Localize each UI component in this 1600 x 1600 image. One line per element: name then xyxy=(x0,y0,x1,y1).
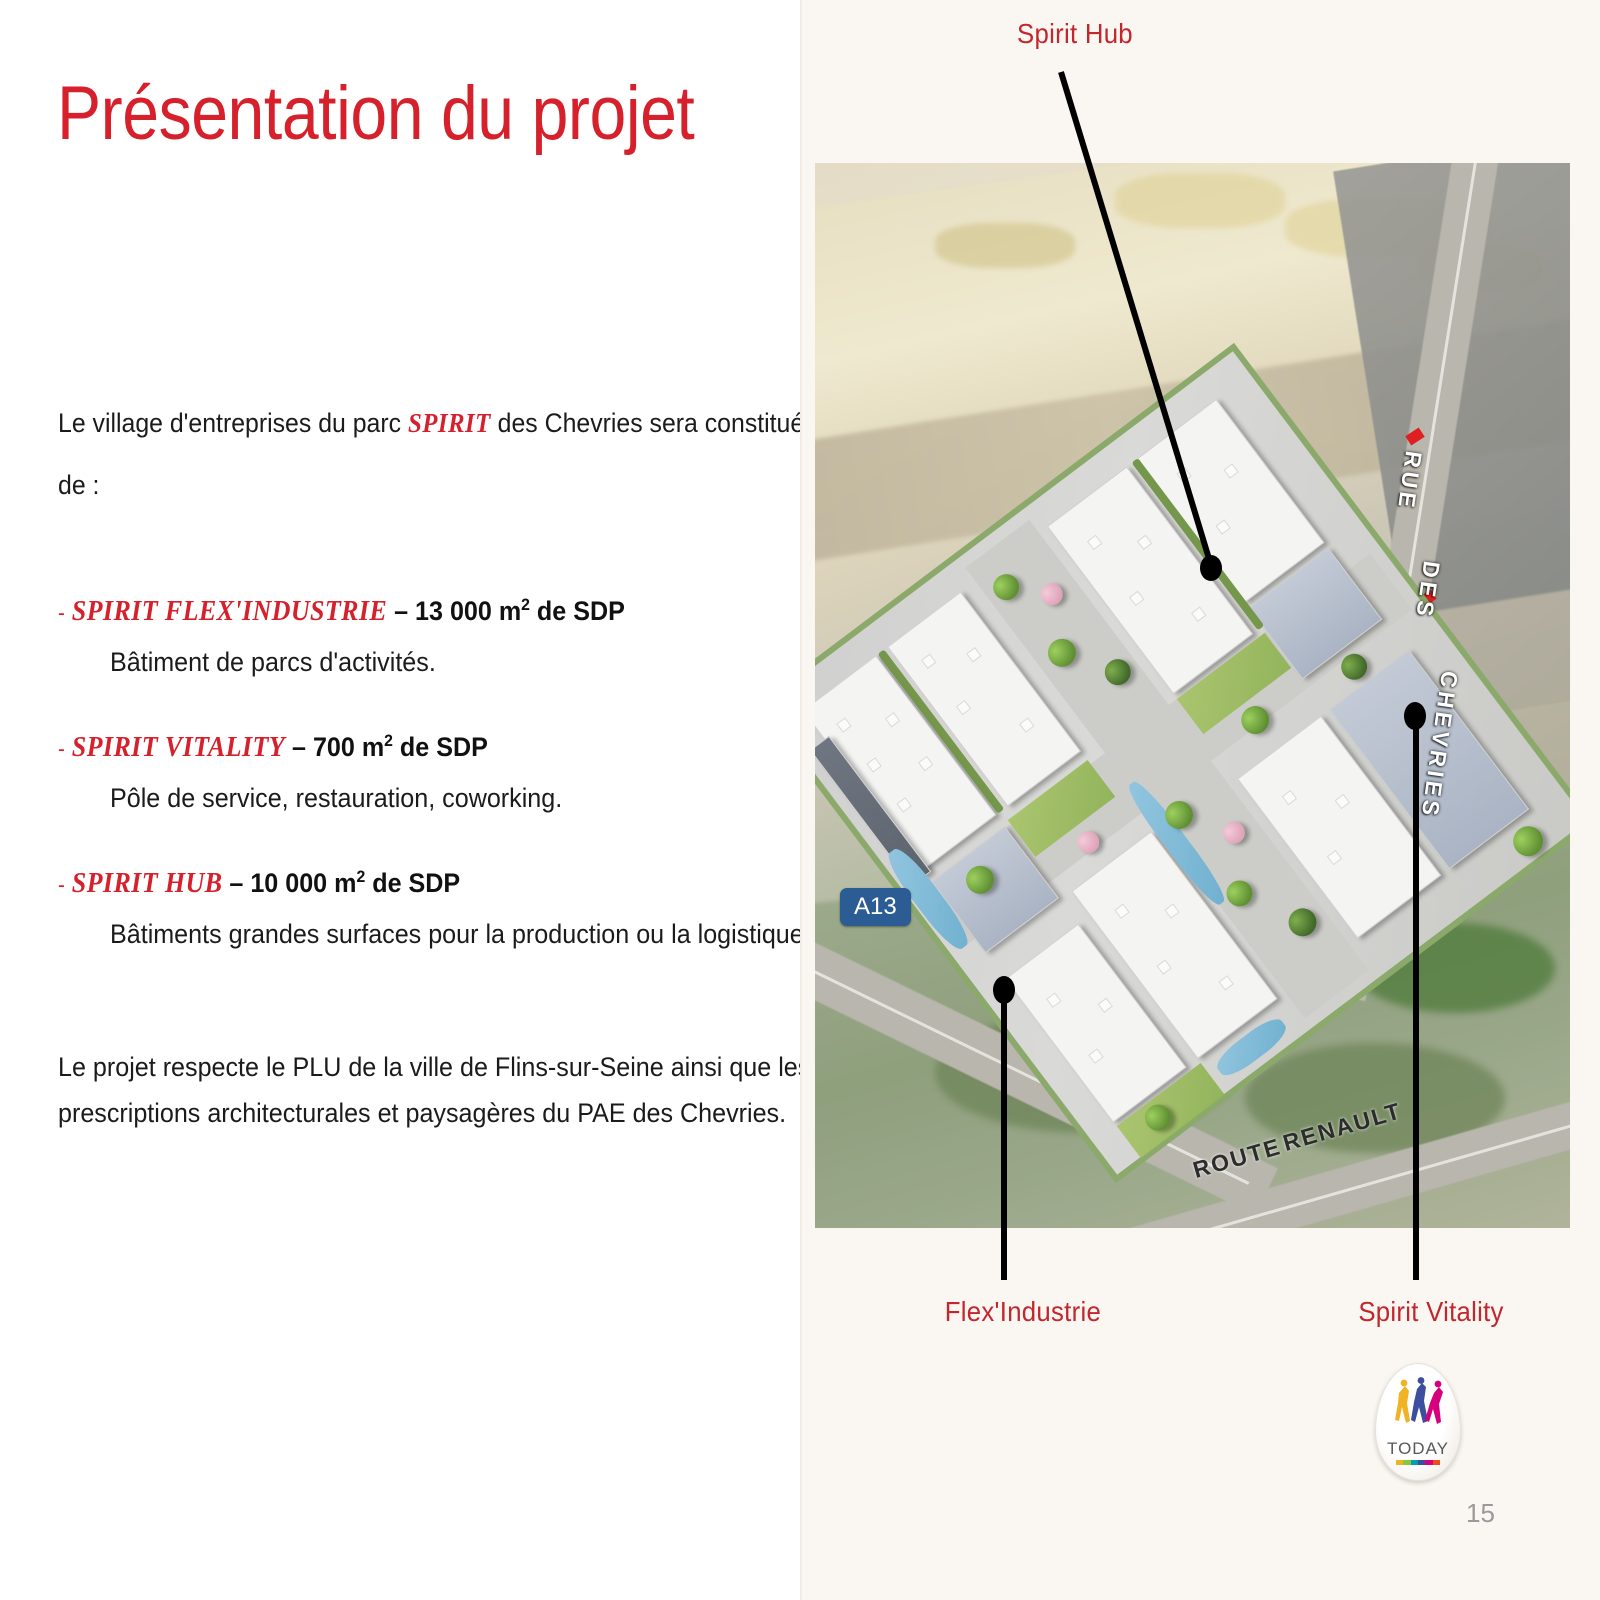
bullet-dash: - xyxy=(58,600,65,625)
today-logo: TODAY xyxy=(1375,1363,1461,1481)
component-size-exponent: 2 xyxy=(384,731,393,750)
left-content-pane: Présentation du projet Le village d'entr… xyxy=(0,0,800,1600)
list-item: - SPIRIT VITALITY – 700 m2 de SDP Pôle d… xyxy=(58,724,778,814)
component-size: 13 000 m2 de SDP xyxy=(415,596,625,626)
pane-divider xyxy=(800,0,802,1600)
component-size-suffix: de SDP xyxy=(365,868,460,898)
logo-figures-icon xyxy=(1387,1377,1449,1439)
callout-label-flex-industrie: Flex'Industrie xyxy=(945,1296,1101,1328)
list-item: - SPIRIT HUB – 10 000 m2 de SDP Bâtiment… xyxy=(58,860,778,950)
component-description: Bâtiment de parcs d'activités. xyxy=(110,646,731,678)
page-title: Présentation du projet xyxy=(57,76,694,152)
component-separator: – xyxy=(387,596,415,626)
component-size-number: 10 000 m xyxy=(250,868,356,898)
highway-badge-a13: A13 xyxy=(840,888,911,926)
logo-wordmark: TODAY xyxy=(1375,1439,1461,1459)
bullet-dash: - xyxy=(58,736,65,761)
callout-label-spirit-vitality: Spirit Vitality xyxy=(1358,1296,1503,1328)
closing-line-1: Le projet respecte le PLU de la ville de… xyxy=(58,1044,709,1090)
closing-paragraph: Le projet respecte le PLU de la ville de… xyxy=(58,1044,709,1136)
component-name: SPIRIT HUB xyxy=(72,868,223,899)
component-size-suffix: de SDP xyxy=(393,732,488,762)
intro-text-after: des Chevries sera constitué xyxy=(491,408,804,438)
sand-patch xyxy=(1115,173,1285,228)
component-name: SPIRIT VITALITY xyxy=(72,732,285,763)
component-name: SPIRIT FLEX'INDUSTRIE xyxy=(72,596,387,627)
map-canvas: A13 RUE DES CHEVRIES ROUTE RENAULT xyxy=(815,163,1570,1228)
callout-label-spirit-hub: Spirit Hub xyxy=(1017,18,1133,50)
bullet-heading: - SPIRIT VITALITY – 700 m2 de SDP xyxy=(58,724,728,766)
component-description: Pôle de service, restauration, coworking… xyxy=(110,782,731,814)
bullet-dash: - xyxy=(58,872,65,897)
closing-line-2: prescriptions architecturales et paysagè… xyxy=(58,1090,709,1136)
component-size-number: 700 m xyxy=(313,732,384,762)
component-size: 10 000 m2 de SDP xyxy=(250,868,460,898)
component-size-suffix: de SDP xyxy=(530,596,625,626)
slide-root: Présentation du projet Le village d'entr… xyxy=(0,0,1600,1600)
aerial-masterplan-image: A13 RUE DES CHEVRIES ROUTE RENAULT xyxy=(815,163,1570,1228)
intro-paragraph: Le village d'entreprises du parc SPIRIT … xyxy=(58,392,738,516)
intro-line-2: de : xyxy=(58,454,684,516)
spirit-brand-word: SPIRIT xyxy=(408,408,491,438)
component-separator: – xyxy=(222,868,250,898)
component-size-number: 13 000 m xyxy=(415,596,521,626)
sand-patch xyxy=(935,223,1075,268)
logo-color-bar xyxy=(1396,1460,1440,1465)
component-separator: – xyxy=(285,732,313,762)
intro-line-1: Le village d'entreprises du parc SPIRIT … xyxy=(58,392,684,454)
component-size: 700 m2 de SDP xyxy=(313,732,488,762)
project-components-list: - SPIRIT FLEX'INDUSTRIE – 13 000 m2 de S… xyxy=(58,588,778,996)
bullet-heading: - SPIRIT HUB – 10 000 m2 de SDP xyxy=(58,860,728,902)
bullet-heading: - SPIRIT FLEX'INDUSTRIE – 13 000 m2 de S… xyxy=(58,588,728,630)
component-description: Bâtiments grandes surfaces pour la produ… xyxy=(110,918,731,950)
intro-text-before: Le village d'entreprises du parc xyxy=(58,408,408,438)
list-item: - SPIRIT FLEX'INDUSTRIE – 13 000 m2 de S… xyxy=(58,588,778,678)
page-number: 15 xyxy=(1466,1498,1495,1529)
